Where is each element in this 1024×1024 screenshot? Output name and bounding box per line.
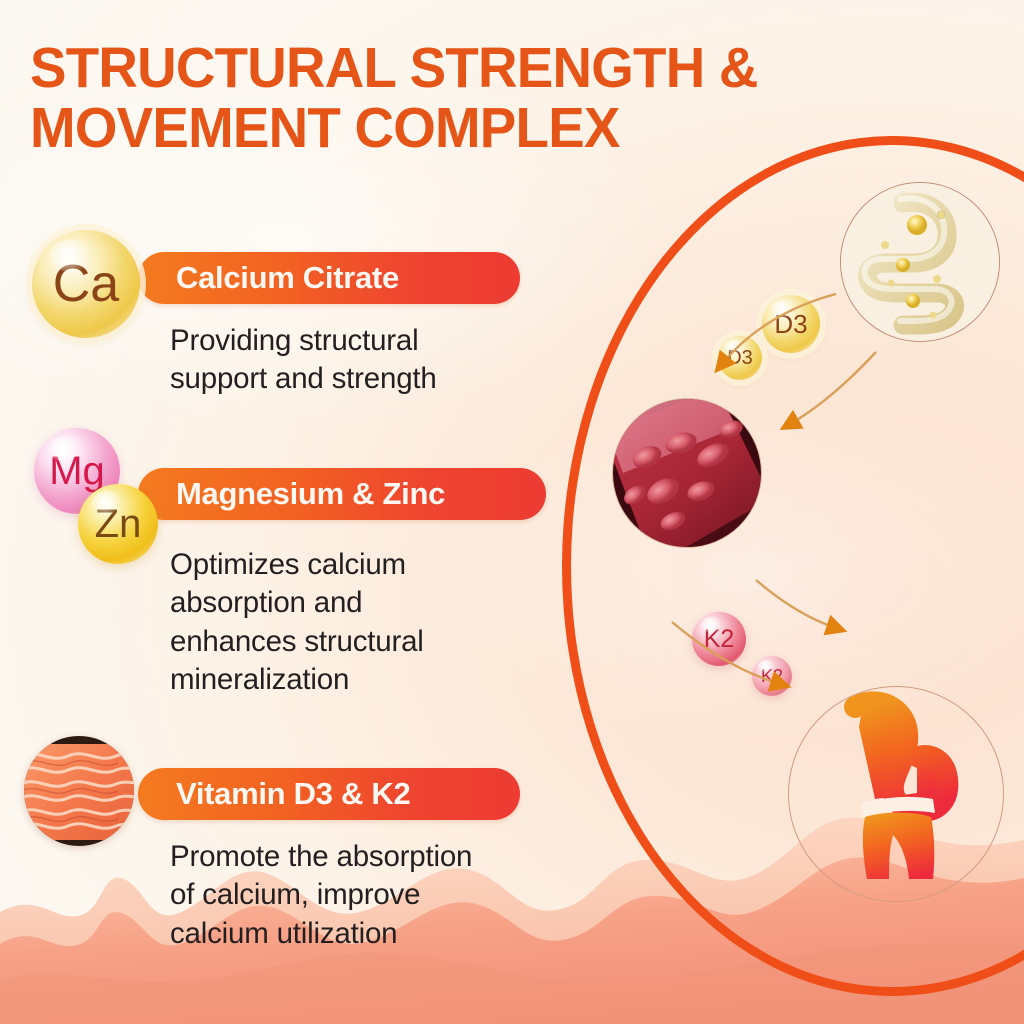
arrow-2 — [790, 352, 876, 424]
salmon-slices-graphic — [24, 736, 134, 846]
ingredient-banner-calcium[interactable]: Calcium Citrate — [138, 252, 520, 304]
ingredient-list: Calcium Citrate Ca Providing structural … — [0, 0, 600, 1024]
ingredient-title-vitamin-d3-k2: Vitamin D3 & K2 — [176, 776, 410, 812]
arrow-3 — [756, 580, 836, 628]
zinc-sphere-icon: Zn — [78, 484, 158, 564]
calcium-sphere-label: Ca — [53, 258, 119, 310]
calcium-sphere-icon: Ca — [32, 230, 140, 338]
blood-vessel-circle — [612, 398, 762, 548]
ingredient-banner-magnesium-zinc[interactable]: Magnesium & Zinc — [138, 468, 546, 520]
arrow-4 — [672, 622, 780, 684]
ingredient-description-vitamin-d3-k2: Promote the absorption of calcium, impro… — [170, 838, 590, 953]
ingredient-title-calcium: Calcium Citrate — [176, 260, 399, 296]
ingredient-description-magnesium-zinc: Optimizes calcium absorption and enhance… — [170, 546, 590, 699]
ingredient-description-calcium: Providing structural support and strengt… — [170, 322, 570, 399]
infographic-canvas: STRUCTURAL STRENGTH & MOVEMENT COMPLEX — [0, 0, 1024, 1024]
salmon-photo-icon — [24, 736, 134, 846]
magnesium-sphere-label: Mg — [49, 451, 105, 491]
blood-vessel-icon — [613, 399, 762, 548]
knee-joint-icon — [789, 687, 1004, 902]
zinc-sphere-label: Zn — [95, 504, 142, 544]
absorption-pathway-diagram: D3 D3 — [540, 120, 1024, 1024]
knee-joint-circle — [788, 686, 1004, 902]
ingredient-banner-vitamin-d3-k2[interactable]: Vitamin D3 & K2 — [138, 768, 520, 820]
ingredient-title-magnesium-zinc: Magnesium & Zinc — [176, 476, 445, 512]
arrow-1 — [722, 294, 836, 364]
